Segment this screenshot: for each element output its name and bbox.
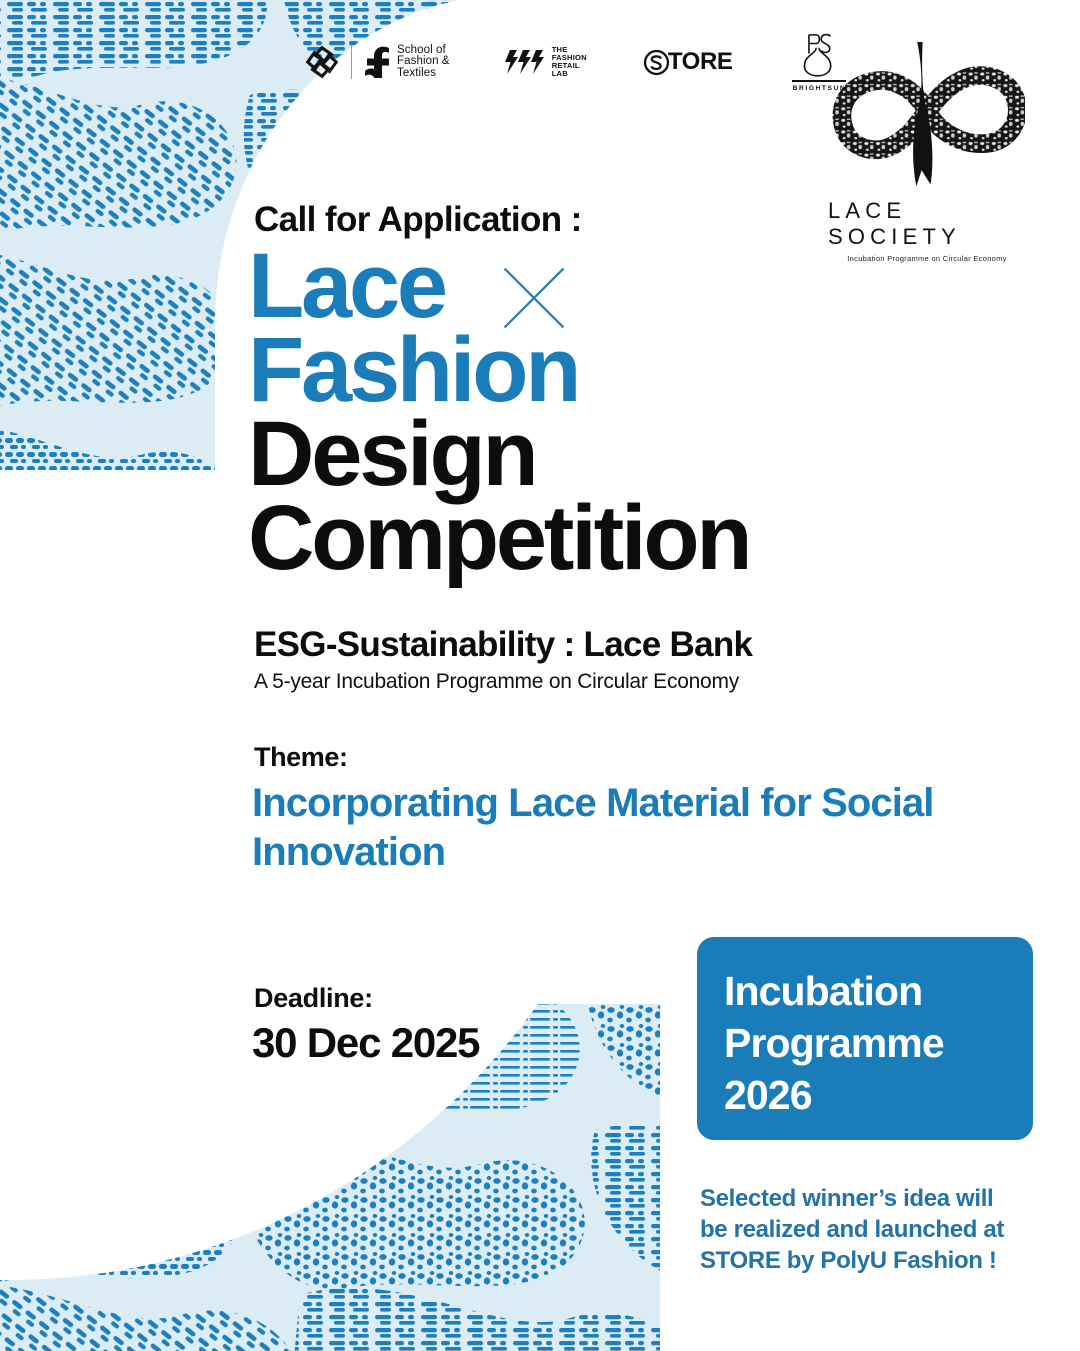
poster-canvas: School of Fashion & Textiles THE FASHION…: [0, 0, 1080, 1351]
theme-text: Incorporating Lace Material for Social I…: [252, 779, 1042, 877]
store-logo-text: TORE: [668, 48, 733, 76]
headline-line-design: Design: [248, 412, 749, 496]
store-s-circle-icon: [643, 49, 670, 76]
deadline-label: Deadline:: [254, 983, 373, 1014]
frl-logo-text: THE FASHION RETAIL LAB: [552, 46, 587, 77]
sft-f-icon: [364, 45, 390, 79]
lace-society-subtitle: Incubation Programme on Circular Economy: [847, 254, 1006, 263]
lace-society-infinity-icon: [829, 36, 1025, 194]
programme-subtitle: A 5-year Incubation Programme on Circula…: [254, 670, 739, 694]
polyu-logo-text: School of Fashion & Textiles: [397, 45, 450, 80]
deadline-value: 30 Dec 2025: [252, 1019, 479, 1067]
polyu-logo: School of Fashion & Textiles: [305, 45, 450, 80]
winner-note-text: Selected winner’s idea will be realized …: [700, 1183, 1040, 1276]
main-headline: Lace Fashion Design Competition: [248, 244, 749, 580]
lace-society-title: LACE SOCIETY: [828, 198, 1026, 250]
esg-subtitle: ESG-Sustainability : Lace Bank: [254, 625, 752, 665]
store-logo: TORE: [643, 48, 733, 76]
headline-line-competition: Competition: [248, 496, 749, 580]
polyu-emblem-icon: [305, 45, 339, 79]
fashion-retail-lab-logo: THE FASHION RETAIL LAB: [502, 46, 587, 77]
headline-line-fashion: Fashion: [248, 328, 749, 412]
lace-society-logo: LACE SOCIETY Incubation Programme on Cir…: [828, 36, 1026, 266]
x-cross-icon: [500, 264, 568, 332]
logo-divider: [351, 45, 352, 79]
incubation-programme-text: Incubation Programme 2026: [724, 965, 1033, 1121]
headline-line-lace: Lace: [248, 244, 749, 328]
frl-mark-icon: [502, 49, 546, 75]
incubation-programme-badge: Incubation Programme 2026: [697, 937, 1033, 1140]
call-for-application-label: Call for Application :: [254, 200, 582, 240]
theme-label: Theme:: [254, 742, 348, 773]
